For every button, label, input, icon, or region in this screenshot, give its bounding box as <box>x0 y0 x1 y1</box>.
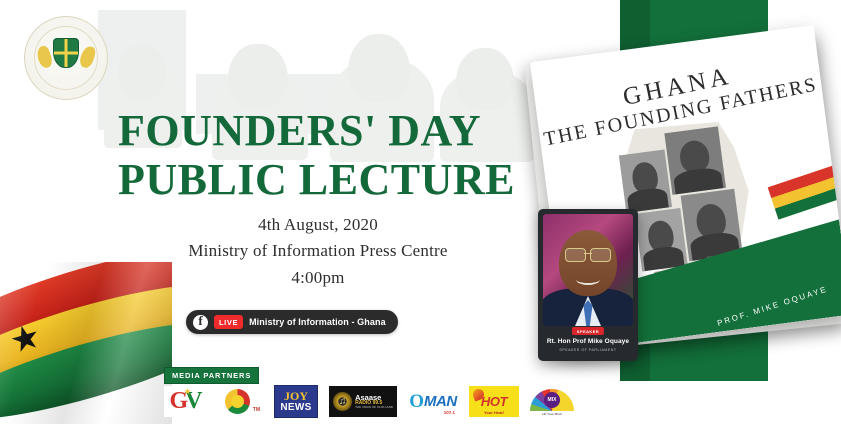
title-line-2: PUBLIC LECTURE <box>118 155 518 204</box>
speaker-role: SPEAKER OF PARLIAMENT <box>538 348 638 352</box>
ghana-coat-of-arms-icon <box>24 16 108 100</box>
asaase-radio-logo: ♫ Asaase RADIO 99.5 THE VOICE OF OUR LAN… <box>329 386 397 417</box>
radio-xyz-logo: MIX Hit Your Mind <box>530 386 574 417</box>
facebook-icon <box>193 315 208 330</box>
founder-portrait <box>619 150 672 214</box>
event-venue: Ministry of Information Press Centre <box>118 238 518 264</box>
tv3-logo: TM <box>219 386 263 417</box>
event-date: 4th August, 2020 <box>118 212 518 238</box>
event-time: 4:00pm <box>118 265 518 291</box>
title-line-1: FOUNDERS' DAY <box>118 106 518 155</box>
speaker-photo <box>543 214 633 326</box>
facebook-live-badge[interactable]: LIVE Ministry of Information - Ghana <box>186 310 398 334</box>
media-partners-row: GV TM JOY NEWS ♫ Asaase RADIO 99.5 THE V… <box>164 385 574 418</box>
founder-portrait <box>664 126 726 195</box>
speaker-name: Rt. Hon Prof Mike Oquaye <box>538 338 638 345</box>
gtv-logo: GV <box>164 386 208 417</box>
page-title: FOUNDERS' DAY PUBLIC LECTURE <box>118 106 518 205</box>
founder-portrait <box>635 208 688 272</box>
founders-day-poster: FOUNDERS' DAY PUBLIC LECTURE 4th August,… <box>0 0 841 424</box>
oman-fm-logo: OMAN 107.1 <box>408 386 458 417</box>
hot-fm-logo: HOT Your Heat! <box>469 386 519 417</box>
book-flag-accent-right <box>768 165 841 219</box>
live-label: LIVE <box>214 315 243 329</box>
ghana-flag-graphic: ★ <box>0 262 172 424</box>
media-partners-label: MEDIA PARTNERS <box>164 367 259 384</box>
facebook-page-name: Ministry of Information - Ghana <box>249 317 386 327</box>
speaker-badge: SPEAKER <box>572 327 604 335</box>
event-details: 4th August, 2020 Ministry of Information… <box>118 212 518 291</box>
speaker-card: SPEAKER Rt. Hon Prof Mike Oquaye SPEAKER… <box>538 209 638 361</box>
joy-news-logo: JOY NEWS <box>274 385 318 418</box>
